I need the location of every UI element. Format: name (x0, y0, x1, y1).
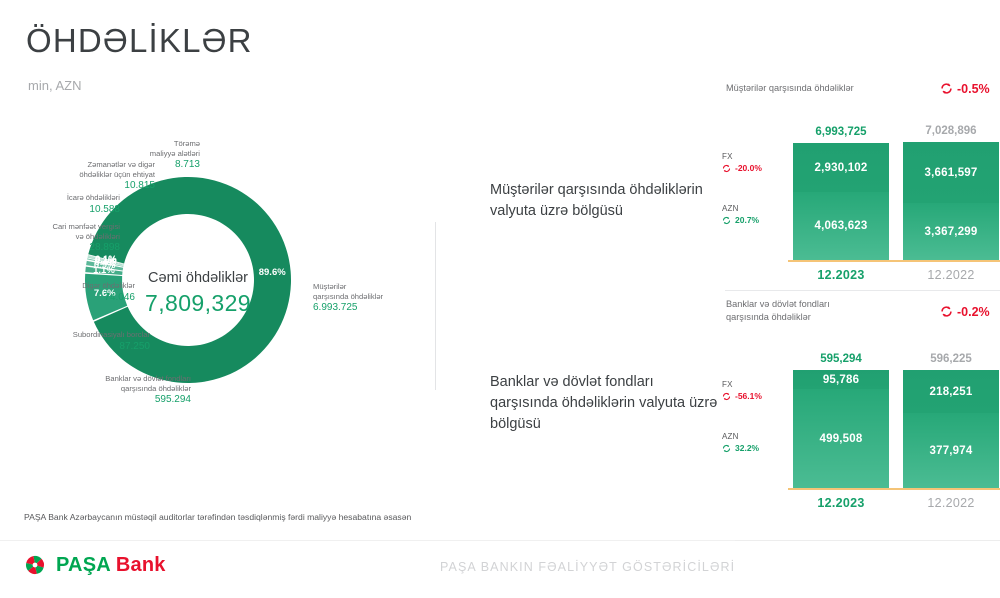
footnote: PAŞA Bank Azərbaycanın müstəqil auditorl… (24, 512, 411, 522)
donut-category-value: 6.993.725 (313, 302, 358, 313)
bar-period-label: 12.2022 (903, 496, 999, 510)
series-key-delta: -56.1% (722, 391, 762, 401)
change-cycle-icon (940, 305, 953, 318)
donut-center-value: 7,809,329 (118, 290, 278, 317)
page-subtitle: min, AZN (28, 78, 81, 93)
bar-segment-value: 2,930,102 (815, 162, 868, 174)
bar-baseline (788, 260, 1000, 262)
donut-category-value: 595.294 (36, 394, 191, 405)
bar-period-label: 12.2022 (903, 268, 999, 282)
panel-kicker: Müştərilər qarşısında öhdəliklər (726, 82, 854, 95)
bar-total-label: 596,225 (903, 353, 999, 365)
page-title: ÖHDƏLİKLƏR (26, 22, 253, 60)
bar-segment-azn: 3,367,299 (903, 203, 999, 260)
bar-segment-value: 499,508 (820, 433, 863, 445)
bar-segment-value: 3,367,299 (925, 226, 978, 238)
series-key-fx: FX-56.1% (722, 380, 762, 401)
donut-slice-percent: 0.1% (92, 254, 120, 265)
bar-segment-azn: 4,063,623 (793, 192, 889, 260)
brand-text: PAŞA Bank (56, 554, 166, 577)
donut-category-value: 28.898 (10, 242, 120, 253)
bar-segment-azn: 377,974 (903, 413, 999, 488)
bar-total-label: 6,993,725 (793, 126, 889, 138)
bar-segment-value: 3,661,597 (925, 167, 978, 179)
panel-delta-value: -0.5% (957, 82, 990, 96)
pasa-bank-pinwheel-icon (22, 552, 48, 578)
bar-segment-value: 377,974 (930, 445, 973, 457)
series-key-delta: 32.2% (722, 443, 759, 453)
bar-column-12.2022: 3,661,5973,367,299 (903, 142, 999, 260)
bar-baseline (788, 488, 1000, 490)
donut-slice-percent: 89.6% (258, 267, 286, 278)
brand-name-bank: Bank (116, 554, 166, 576)
footer-tagline: PAŞA BANKIN FƏALİYYƏT GÖSTƏRİCİLƏRİ (440, 560, 735, 574)
donut-category-value: 87.250 (10, 341, 150, 352)
series-key-name: FX (722, 152, 762, 161)
bar-segment-fx: 2,930,102 (793, 143, 889, 192)
donut-category-label: Cari mənfəət vergisivə öhdəlikləri (10, 222, 120, 243)
donut-category-label: Digər öhdəliklər (10, 281, 135, 291)
change-cycle-icon (722, 216, 731, 225)
donut-category-value: 74.046 (10, 292, 135, 303)
donut-category-label: İcarə öhdəlikləri (10, 193, 120, 203)
change-cycle-icon (722, 444, 731, 453)
series-key-delta: 20.7% (722, 215, 759, 225)
panel-kicker: Banklar və dövlət fondlarıqarşısında öhd… (726, 298, 830, 325)
panel-delta-value: -0.2% (957, 305, 990, 319)
donut-category-value: 8.713 (110, 159, 200, 170)
bar-total-label: 595,294 (793, 353, 889, 365)
series-key-delta: -20.0% (722, 163, 762, 173)
change-cycle-icon (722, 164, 731, 173)
bar-segment-value: 218,251 (930, 386, 973, 398)
donut-category-value: 10.588 (10, 204, 120, 215)
bar-segment-fx: 3,661,597 (903, 142, 999, 203)
brand-name-pasa: PAŞA (56, 554, 110, 576)
bar-period-label: 12.2023 (793, 268, 889, 282)
panel-delta-badge: -0.5% (940, 82, 990, 96)
series-key-name: AZN (722, 432, 759, 441)
bar-segment-fx: 95,786 (793, 370, 889, 389)
bar-segment-value: 4,063,623 (815, 220, 868, 232)
donut-center-label: Cəmi öhdəliklər (128, 270, 268, 286)
infographic-page: ÖHDƏLİKLƏR min, AZN Cəmi öhdəliklər 7,80… (0, 0, 1000, 598)
footer-divider-right (735, 540, 1000, 541)
series-key-name: FX (722, 380, 762, 389)
bar-column-12.2022: 218,251377,974 (903, 370, 999, 488)
bar-segment-value: 95,786 (823, 374, 859, 386)
change-cycle-icon (940, 82, 953, 95)
bar-total-label: 7,028,896 (903, 125, 999, 137)
donut-category-label: Müştərilərqarşısında öhdəliklər (313, 282, 383, 303)
change-cycle-icon (722, 392, 731, 401)
bar-period-label: 12.2023 (793, 496, 889, 510)
section-divider-vertical (435, 222, 436, 390)
bar-column-12.2023: 95,786499,508 (793, 370, 889, 488)
bar-column-12.2023: 2,930,1024,063,623 (793, 143, 889, 260)
donut-category-label: Törəməmaliyyə alətləri (110, 139, 200, 160)
series-key-azn: AZN32.2% (722, 432, 759, 453)
donut-category-value: 10.815 (10, 180, 155, 191)
panel-delta-badge: -0.2% (940, 305, 990, 319)
panel-divider-horizontal (725, 290, 1000, 291)
panel-description: Müştərilər qarşısında öhdəliklərin valyu… (490, 180, 720, 222)
series-key-azn: AZN20.7% (722, 204, 759, 225)
bar-segment-azn: 499,508 (793, 389, 889, 488)
series-key-name: AZN (722, 204, 759, 213)
bar-segment-fx: 218,251 (903, 370, 999, 413)
donut-category-label: Subordinasiyalı borclar (10, 330, 150, 340)
panel-description: Banklar və dövlət fondları qarşısında öh… (490, 372, 720, 435)
series-key-fx: FX-20.0% (722, 152, 762, 173)
donut-category-label: Banklar və dövlət fondlarıqarşısında öhd… (36, 374, 191, 395)
brand-logo: PAŞA Bank (22, 552, 166, 578)
